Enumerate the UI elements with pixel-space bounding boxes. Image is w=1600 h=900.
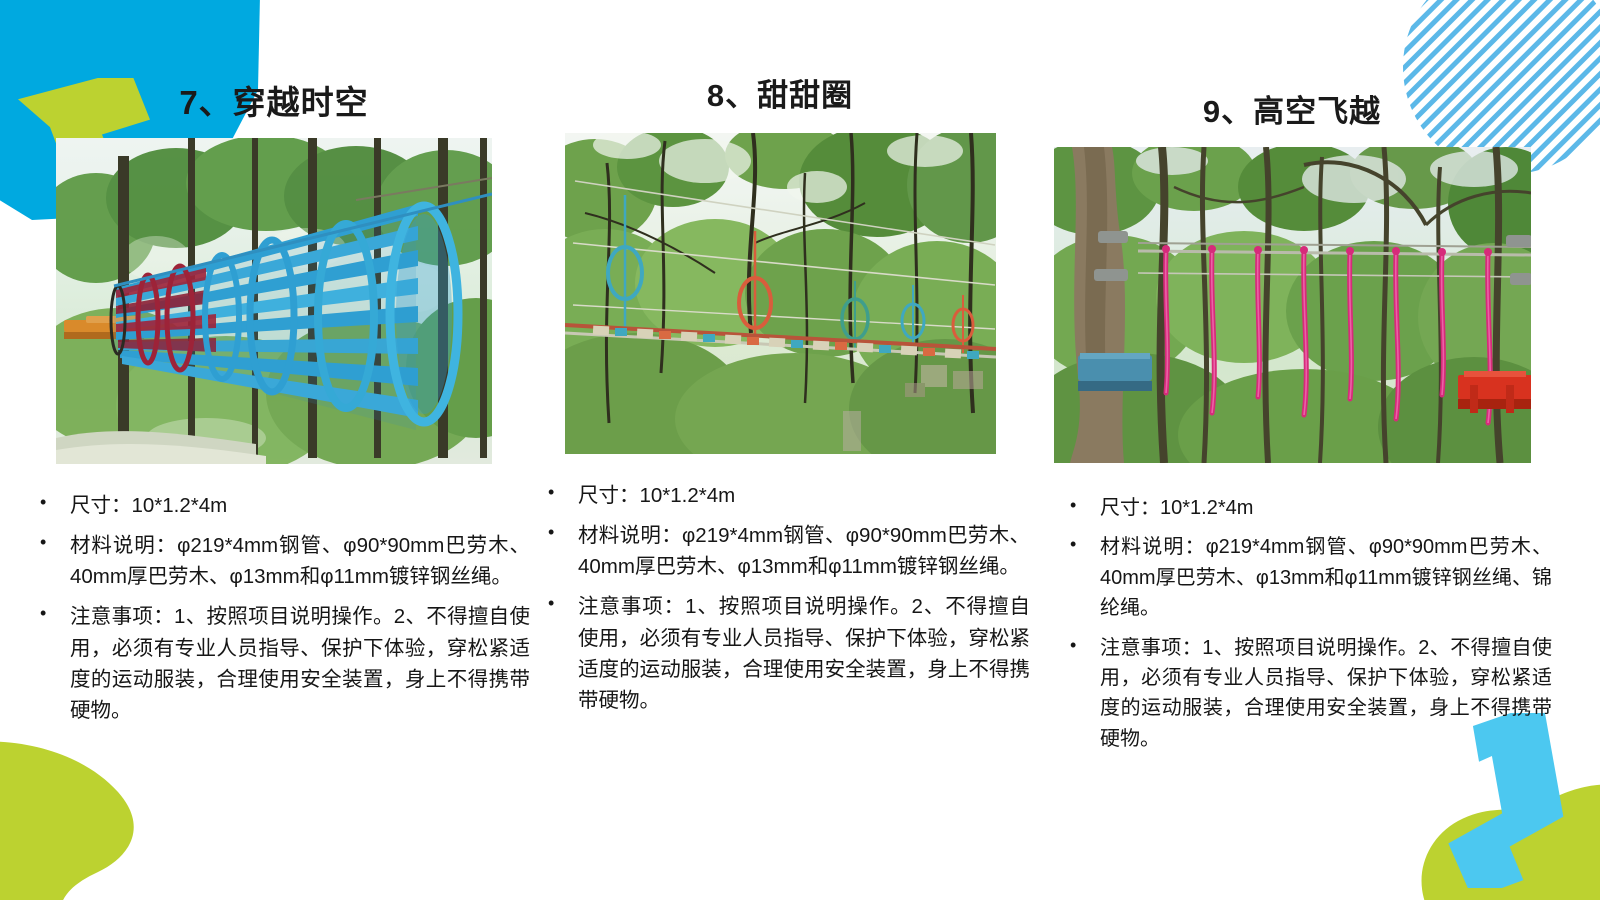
tunnel-cage-photo: [56, 138, 492, 464]
column-1: 7、穿越时空: [18, 0, 530, 735]
bullet-material: 材料说明：φ219*4mm钢管、φ90*90mm巴劳木、40mm厚巴劳木、φ13…: [538, 520, 1030, 582]
bullet-material: 材料说明：φ219*4mm钢管、φ90*90mm巴劳木、40mm厚巴劳木、φ13…: [30, 530, 530, 592]
column-3: 9、高空飞越: [1032, 0, 1552, 763]
bullet-notice: 注意事项：1、按照项目说明操作。2、不得擅自使用，必须有专业人员指导、保护下体验…: [30, 601, 530, 726]
column-3-bullets: 尺寸：10*1.2*4m 材料说明：φ219*4mm钢管、φ90*90mm巴劳木…: [1032, 493, 1552, 754]
column-2-title: 8、甜甜圈: [530, 70, 1030, 115]
column-1-bullets: 尺寸：10*1.2*4m 材料说明：φ219*4mm钢管、φ90*90mm巴劳木…: [18, 490, 530, 726]
bullet-size: 尺寸：10*1.2*4m: [538, 480, 1030, 511]
content-columns: 7、穿越时空: [0, 0, 1600, 900]
rings-bridge-photo: [565, 133, 996, 454]
column-1-title: 7、穿越时空: [18, 76, 530, 124]
column-2-bullets: 尺寸：10*1.2*4m 材料说明：φ219*4mm钢管、φ90*90mm巴劳木…: [530, 480, 1030, 716]
bullet-notice: 注意事项：1、按照项目说明操作。2、不得擅自使用，必须有专业人员指导、保护下体验…: [1060, 633, 1552, 755]
bullet-material: 材料说明：φ219*4mm钢管、φ90*90mm巴劳木、40mm厚巴劳木、φ13…: [1060, 532, 1552, 623]
column-2: 8、甜甜圈: [530, 0, 1030, 725]
bullet-size: 尺寸：10*1.2*4m: [30, 490, 530, 521]
slide-canvas: 7、穿越时空: [0, 0, 1600, 900]
bullet-size: 尺寸：10*1.2*4m: [1060, 493, 1552, 523]
hanging-ropes-photo: [1054, 147, 1531, 463]
column-3-title: 9、高空飞越: [1032, 86, 1552, 131]
bullet-notice: 注意事项：1、按照项目说明操作。2、不得擅自使用，必须有专业人员指导、保护下体验…: [538, 591, 1030, 716]
